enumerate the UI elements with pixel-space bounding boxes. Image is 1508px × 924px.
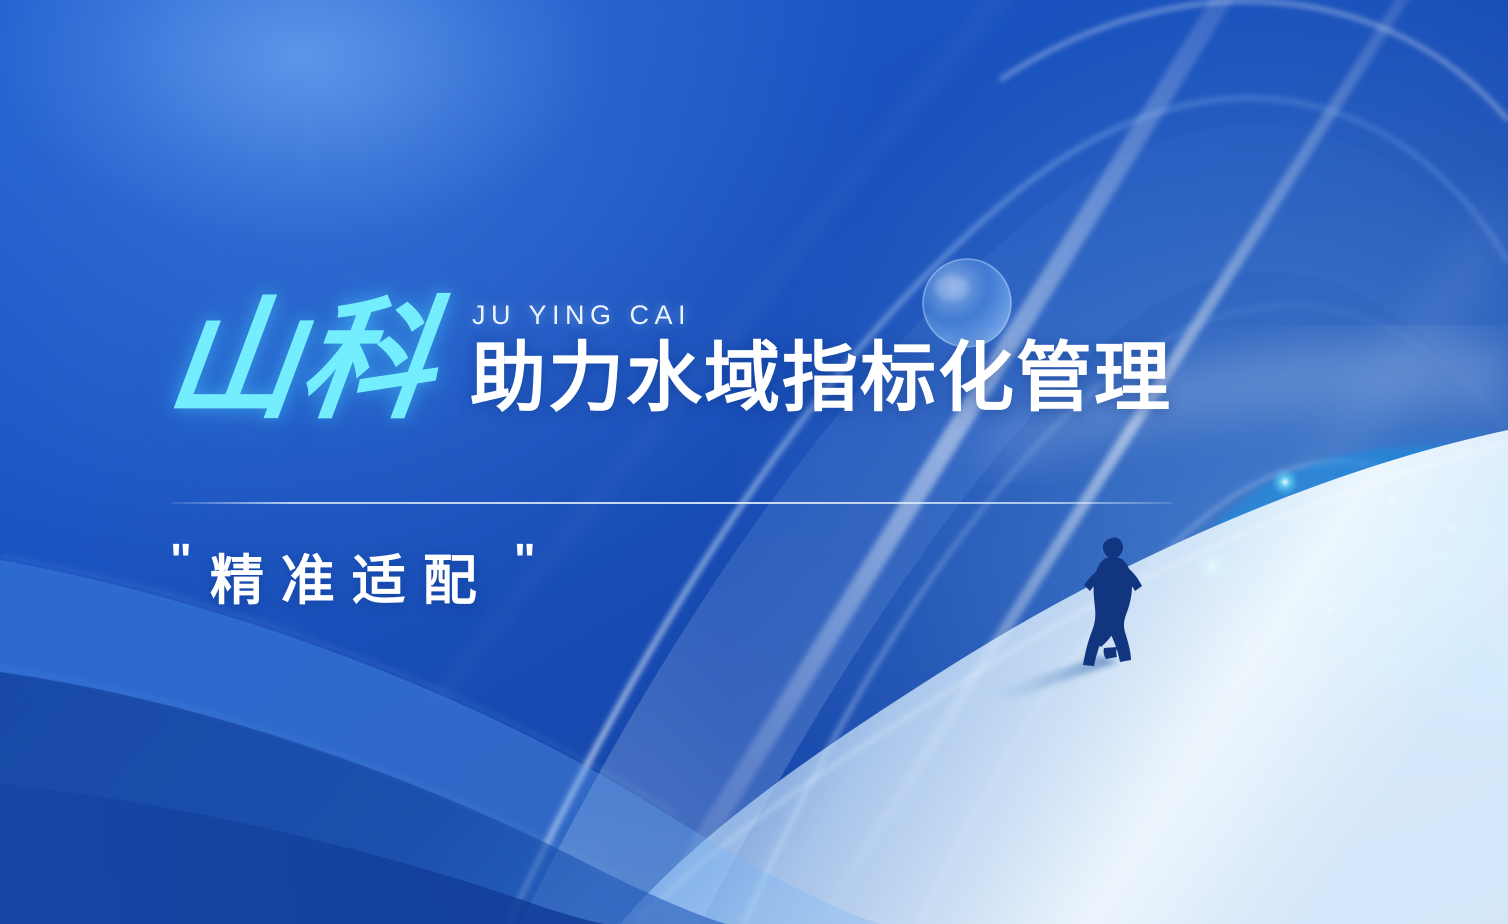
headline-text: 助力水域指标化管理 xyxy=(470,341,1172,417)
headline-column: JU YING CAI 助力水域指标化管理 xyxy=(470,300,1172,421)
divider-line xyxy=(172,502,1172,504)
banner-content: 山科 JU YING CAI 助力水域指标化管理 " 精准适配 " xyxy=(0,0,1508,924)
tagline-text: 精准适配 xyxy=(210,536,494,615)
tagline-row: " 精准适配 " xyxy=(170,536,534,615)
quote-close-mark: " xyxy=(514,537,534,583)
brand-logo-text: 山科 xyxy=(161,300,444,421)
quote-open-mark: " xyxy=(170,537,190,583)
promo-banner: 山科 JU YING CAI 助力水域指标化管理 " 精准适配 " xyxy=(0,0,1508,924)
brand-headline-row: 山科 JU YING CAI 助力水域指标化管理 xyxy=(168,300,1172,421)
brand-pinyin: JU YING CAI xyxy=(472,300,1172,331)
